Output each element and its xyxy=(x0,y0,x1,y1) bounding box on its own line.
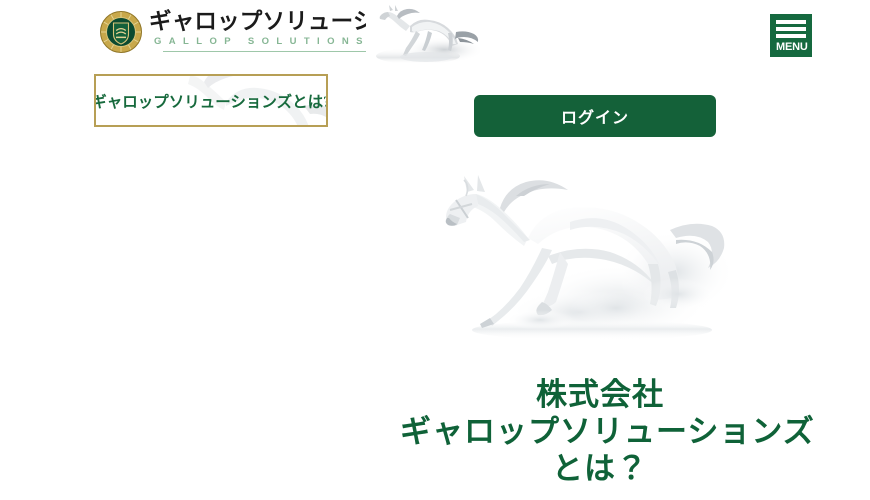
page-title-line-2: ギャロップソリューションズ xyxy=(400,413,800,450)
page-title-line-3: とは？ xyxy=(400,450,800,487)
shield-crest-icon xyxy=(100,11,142,53)
header-horse-image xyxy=(366,0,484,64)
login-button-label: ログイン xyxy=(561,104,629,128)
menu-button-label: MENU xyxy=(776,41,806,54)
about-link-box[interactable]: ギャロップソリューションズとは? xyxy=(94,74,328,127)
page-title-line-1: 株式会社 xyxy=(400,376,800,413)
page-title: 株式会社 ギャロップソリューションズ とは？ xyxy=(400,376,800,487)
about-link-label: ギャロップソリューションズとは? xyxy=(94,90,328,112)
hero-horse-image xyxy=(420,152,765,352)
logo-underline-divider xyxy=(163,51,371,52)
site-header: ギャロップソリューションズ GALLOP SOLUTIONS xyxy=(0,0,870,70)
login-button[interactable]: ログイン xyxy=(474,95,716,137)
menu-button[interactable]: MENU xyxy=(770,14,812,57)
hamburger-icon xyxy=(776,20,806,38)
